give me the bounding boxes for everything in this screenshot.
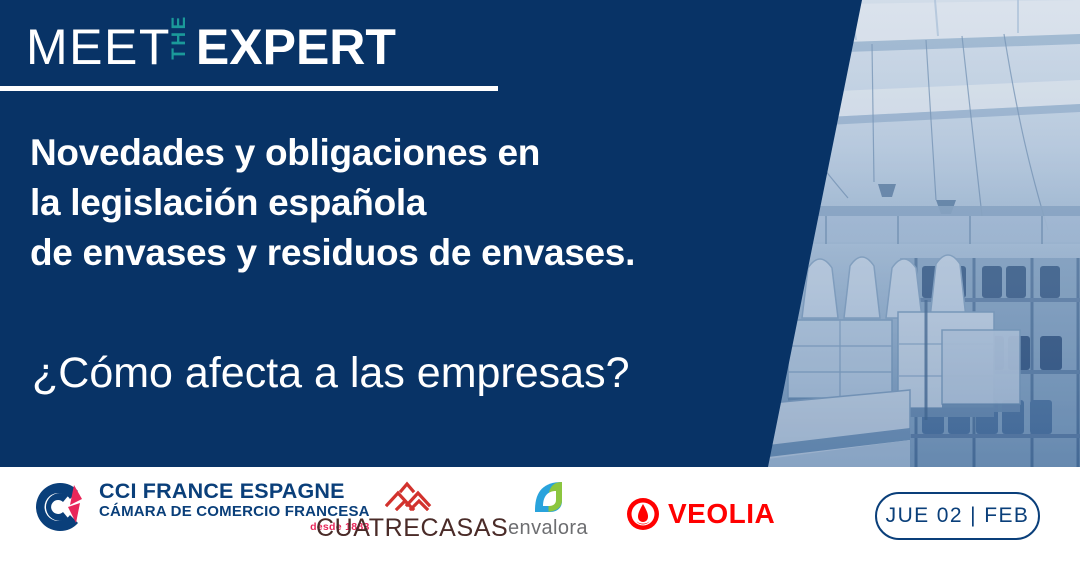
lockup-word-the-rotated: THE (173, 20, 195, 72)
headline-line-3: de envases y residuos de envases. (30, 228, 790, 278)
leaf-icon (530, 479, 566, 515)
subtitle-question: ¿Cómo afecta a las empresas? (32, 347, 792, 399)
veolia-circle-icon (626, 497, 660, 531)
cuatrecasas-wordmark: CUATRECASAS (316, 514, 508, 542)
logo-veolia[interactable]: VEOLIA (626, 497, 775, 531)
event-banner: MEET THE EXPERT Novedades y obligaciones… (0, 0, 1080, 566)
headline-line-1: Novedades y obligaciones en (30, 128, 790, 178)
lockup-word-meet: MEET (26, 22, 171, 72)
cci-circle-icon (30, 479, 90, 535)
header-divider-rule (0, 86, 498, 91)
chevron-cluster-icon (385, 481, 439, 511)
lockup-word-expert: EXPERT (196, 22, 396, 72)
lockup-word-the: THE (169, 14, 191, 60)
date-badge-text: JUE 02 | FEB (886, 505, 1030, 527)
veolia-wordmark: VEOLIA (668, 499, 775, 529)
page-title: Novedades y obligaciones en la legislaci… (30, 128, 790, 278)
logo-cuatrecasas[interactable]: CUATRECASAS (316, 481, 508, 542)
headline-line-2: la legislación española (30, 178, 790, 228)
date-badge[interactable]: JUE 02 | FEB (875, 492, 1040, 540)
logo-envalora[interactable]: envalora (503, 479, 593, 539)
meet-the-expert-lockup: MEET THE EXPERT (26, 14, 396, 72)
envalora-wordmark: envalora (503, 517, 593, 539)
